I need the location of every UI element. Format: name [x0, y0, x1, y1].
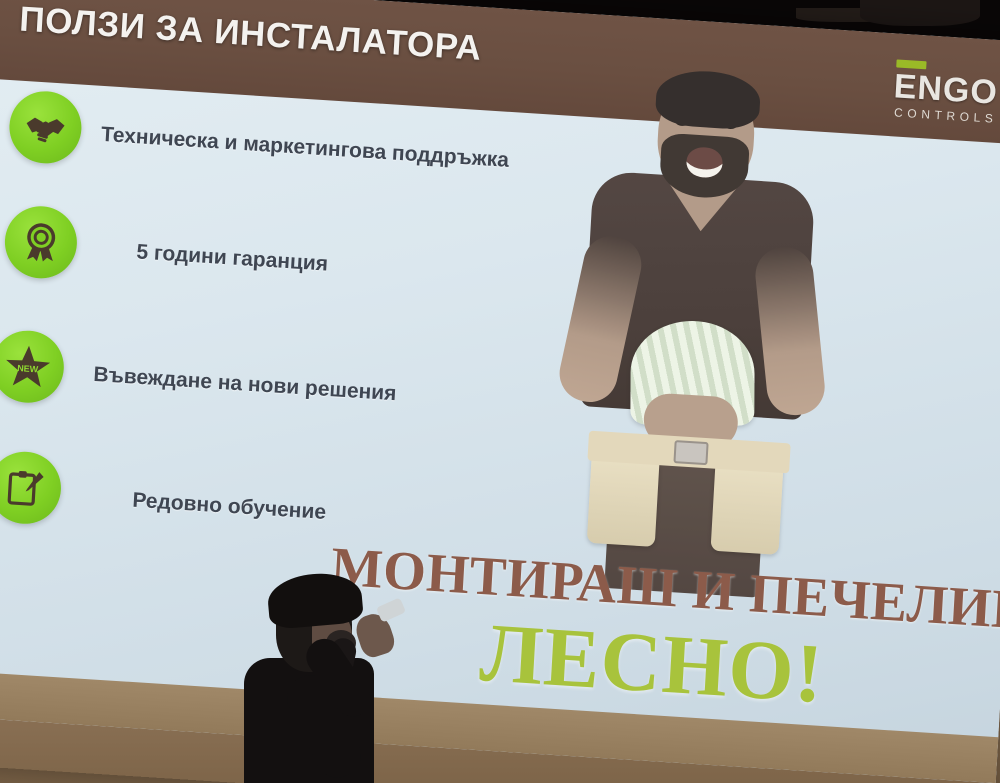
projection-screen: ПОЛЗИ ЗА ИНСТАЛАТОРА ENGO CONTROLS: [0, 0, 1000, 783]
handshake-icon: [7, 89, 83, 165]
presentation-clicker-icon: [376, 597, 406, 622]
photo-belt-buckle: [673, 440, 708, 465]
photo-tool-pouch-right: [711, 459, 784, 555]
list-item-label: Техническа и маркетингова поддръжка: [100, 123, 509, 173]
logo-wordmark: ENGO: [892, 69, 1000, 110]
star-badge-text: NEW: [17, 363, 39, 374]
list-item-label: 5 години гаранция: [136, 240, 329, 276]
presenter-silhouette: [236, 572, 446, 783]
ceiling-fixture: [860, 0, 980, 26]
photo-hair: [655, 68, 762, 131]
award-medal-icon: [3, 204, 79, 280]
clipboard-pen-icon: [0, 450, 63, 526]
presenter-hair: [266, 570, 364, 630]
list-item-label: Редовно обучение: [132, 489, 327, 525]
photo-tool-pouch-left: [587, 451, 660, 547]
benefits-list: Техническа и маркетингова поддръжка: [0, 78, 579, 593]
engo-controls-logo: ENGO CONTROLS: [891, 59, 1000, 125]
installer-photo: [544, 57, 844, 603]
headline-line-2: ЛЕСНО!: [478, 604, 827, 723]
star-new-icon: NEW: [0, 328, 66, 404]
photo-of-presentation-room: ПОЛЗИ ЗА ИНСТАЛАТОРА ENGO CONTROLS: [0, 0, 1000, 783]
presentation-slide: ПОЛЗИ ЗА ИНСТАЛАТОРА ENGO CONTROLS: [0, 0, 1000, 783]
list-item-label: Въвеждане на нови решения: [93, 363, 397, 406]
